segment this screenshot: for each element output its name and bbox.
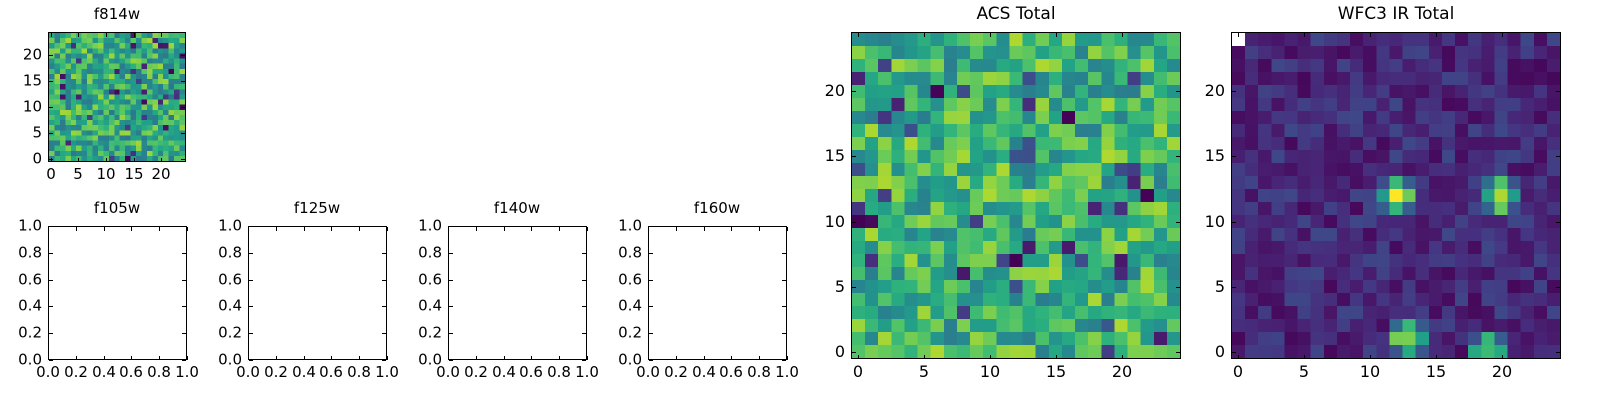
xtick-top-f160w-0 (648, 227, 649, 231)
yticklabel-f140w-4: 0.8 (384, 246, 442, 261)
panel-title-wfc3-ir-total: WFC3 IR Total (1236, 4, 1556, 24)
ytick-right-f814w-2 (181, 107, 185, 108)
xticklabel-f814w-0: 0 (46, 167, 56, 182)
xticklabel-f140w-4: 0.8 (547, 365, 571, 380)
ytick-f140w-3 (449, 280, 453, 281)
yticklabel-f140w-0: 0.0 (384, 353, 442, 368)
yticklabel-wfc3-ir-total-4: 20 (1167, 83, 1225, 99)
xticklabel-f814w-2: 10 (96, 167, 115, 182)
xtick-top-f125w-1 (276, 227, 277, 231)
axes-acs-total (851, 32, 1181, 359)
xtick-top-f160w-1 (676, 227, 677, 231)
yticklabel-f160w-2: 0.4 (584, 299, 642, 314)
xtick-acs-total-1 (924, 355, 925, 359)
ytick-right-f160w-3 (782, 280, 786, 281)
yticklabel-wfc3-ir-total-2: 10 (1167, 214, 1225, 230)
xticklabel-f140w-2: 0.4 (492, 365, 516, 380)
xtick-top-acs-total-0 (858, 33, 859, 37)
yticklabel-f140w-5: 1.0 (384, 219, 442, 234)
xtick-f160w-3 (731, 356, 732, 360)
xtick-f105w-2 (104, 356, 105, 360)
xtick-f125w-2 (304, 356, 305, 360)
xtick-f105w-4 (159, 356, 160, 360)
yticklabel-f105w-0: 0.0 (0, 353, 42, 368)
ytick-f125w-5 (249, 226, 253, 227)
yticklabel-wfc3-ir-total-0: 0 (1167, 344, 1225, 360)
xticklabel-f160w-2: 0.4 (692, 365, 716, 380)
xtick-top-f814w-3 (134, 33, 135, 37)
ytick-f160w-0 (649, 360, 653, 361)
xtick-top-f814w-2 (106, 33, 107, 37)
xticklabel-f125w-2: 0.4 (292, 365, 316, 380)
ytick-f125w-4 (249, 253, 253, 254)
xtick-top-acs-total-3 (1056, 33, 1057, 37)
yticklabel-f125w-1: 0.2 (184, 326, 242, 341)
ytick-f140w-5 (449, 226, 453, 227)
axes-f140w (448, 226, 587, 360)
xtick-f140w-1 (476, 356, 477, 360)
ytick-f125w-1 (249, 333, 253, 334)
yticklabel-f140w-2: 0.4 (384, 299, 442, 314)
xtick-top-f160w-4 (759, 227, 760, 231)
ytick-f814w-4 (49, 55, 53, 56)
xticklabel-f105w-1: 0.2 (64, 365, 88, 380)
xticklabel-wfc3-ir-total-2: 10 (1360, 364, 1380, 380)
yticklabel-f814w-3: 15 (0, 74, 42, 89)
xtick-wfc3-ir-total-0 (1238, 355, 1239, 359)
ytick-f125w-2 (249, 306, 253, 307)
yticklabel-f814w-2: 10 (0, 100, 42, 115)
ytick-f160w-4 (649, 253, 653, 254)
heatmap-wfc3-ir-total (1232, 33, 1560, 358)
ytick-f160w-2 (649, 306, 653, 307)
yticklabel-f105w-5: 1.0 (0, 219, 42, 234)
xtick-acs-total-3 (1056, 355, 1057, 359)
xtick-top-f125w-4 (359, 227, 360, 231)
xtick-top-f105w-0 (48, 227, 49, 231)
ytick-f814w-3 (49, 81, 53, 82)
ytick-right-wfc3-ir-total-1 (1556, 287, 1560, 288)
xticklabel-f125w-4: 0.8 (347, 365, 371, 380)
yticklabel-f160w-5: 1.0 (584, 219, 642, 234)
xticklabel-f814w-1: 5 (73, 167, 83, 182)
ytick-f160w-1 (649, 333, 653, 334)
xtick-f140w-2 (504, 356, 505, 360)
yticklabel-f814w-1: 5 (0, 126, 42, 141)
ytick-acs-total-2 (852, 222, 856, 223)
ytick-f125w-0 (249, 360, 253, 361)
ytick-f140w-1 (449, 333, 453, 334)
ytick-wfc3-ir-total-2 (1232, 222, 1236, 223)
yticklabel-f125w-0: 0.0 (184, 353, 242, 368)
xtick-f125w-1 (276, 356, 277, 360)
ytick-right-f160w-0 (782, 360, 786, 361)
xticklabel-f814w-3: 15 (124, 167, 143, 182)
xtick-top-wfc3-ir-total-0 (1238, 33, 1239, 37)
axes-f125w (248, 226, 387, 360)
ytick-wfc3-ir-total-1 (1232, 287, 1236, 288)
xtick-f160w-1 (676, 356, 677, 360)
xtick-top-f814w-4 (161, 33, 162, 37)
yticklabel-f160w-4: 0.8 (584, 246, 642, 261)
yticklabel-wfc3-ir-total-1: 5 (1167, 279, 1225, 295)
xticklabel-wfc3-ir-total-3: 15 (1426, 364, 1446, 380)
xtick-top-f140w-4 (559, 227, 560, 231)
ytick-f140w-0 (449, 360, 453, 361)
ytick-f105w-4 (49, 253, 53, 254)
xtick-top-f105w-2 (104, 227, 105, 231)
xtick-f814w-1 (78, 158, 79, 162)
ytick-f814w-0 (49, 159, 53, 160)
xticklabel-acs-total-2: 10 (980, 364, 1000, 380)
xtick-wfc3-ir-total-3 (1436, 355, 1437, 359)
xtick-top-f125w-0 (248, 227, 249, 231)
yticklabel-f105w-3: 0.6 (0, 273, 42, 288)
xtick-top-f814w-0 (51, 33, 52, 37)
ytick-right-f814w-0 (181, 159, 185, 160)
xtick-top-acs-total-1 (924, 33, 925, 37)
yticklabel-f814w-4: 20 (0, 48, 42, 63)
xtick-f125w-4 (359, 356, 360, 360)
xtick-wfc3-ir-total-2 (1370, 355, 1371, 359)
ytick-f105w-1 (49, 333, 53, 334)
ytick-acs-total-3 (852, 156, 856, 157)
xticklabel-f105w-2: 0.4 (92, 365, 116, 380)
yticklabel-acs-total-1: 5 (787, 279, 845, 295)
heatmap-f814w (49, 33, 185, 161)
ytick-right-wfc3-ir-total-4 (1556, 91, 1560, 92)
xticklabel-wfc3-ir-total-1: 5 (1299, 364, 1309, 380)
heatmap-acs-total (852, 33, 1180, 358)
xtick-top-wfc3-ir-total-1 (1304, 33, 1305, 37)
ytick-acs-total-1 (852, 287, 856, 288)
xticklabel-f140w-3: 0.6 (519, 365, 543, 380)
yticklabel-acs-total-0: 0 (787, 344, 845, 360)
yticklabel-f160w-1: 0.2 (584, 326, 642, 341)
xticklabel-f160w-5: 1.0 (775, 365, 799, 380)
xtick-top-f160w-2 (704, 227, 705, 231)
xtick-top-f105w-4 (159, 227, 160, 231)
xticklabel-wfc3-ir-total-4: 20 (1492, 364, 1512, 380)
xticklabel-f125w-1: 0.2 (264, 365, 288, 380)
yticklabel-f105w-4: 0.8 (0, 246, 42, 261)
yticklabel-f160w-0: 0.0 (584, 353, 642, 368)
xtick-f105w-3 (131, 356, 132, 360)
xtick-top-f105w-1 (76, 227, 77, 231)
axes-f105w (48, 226, 187, 360)
xtick-f105w-1 (76, 356, 77, 360)
yticklabel-f140w-3: 0.6 (384, 273, 442, 288)
xtick-top-wfc3-ir-total-3 (1436, 33, 1437, 37)
xticklabel-f160w-4: 0.8 (747, 365, 771, 380)
xticklabel-f160w-1: 0.2 (664, 365, 688, 380)
xtick-top-acs-total-2 (990, 33, 991, 37)
xtick-top-f160w-3 (731, 227, 732, 231)
xticklabel-acs-total-1: 5 (919, 364, 929, 380)
ytick-f160w-5 (649, 226, 653, 227)
ytick-f105w-2 (49, 306, 53, 307)
xticklabel-acs-total-0: 0 (853, 364, 863, 380)
xtick-acs-total-2 (990, 355, 991, 359)
xtick-f814w-2 (106, 158, 107, 162)
figure-canvas: f814w0510152005101520f105w0.00.20.40.60.… (0, 0, 1600, 400)
xtick-f814w-3 (134, 158, 135, 162)
ytick-f814w-2 (49, 107, 53, 108)
xticklabel-f140w-1: 0.2 (464, 365, 488, 380)
xticklabel-f160w-3: 0.6 (719, 365, 743, 380)
ytick-right-f814w-3 (181, 81, 185, 82)
xtick-top-f125w-3 (331, 227, 332, 231)
xticklabel-f105w-4: 0.8 (147, 365, 171, 380)
ytick-right-f160w-4 (782, 253, 786, 254)
ytick-right-f814w-4 (181, 55, 185, 56)
ytick-acs-total-4 (852, 91, 856, 92)
xtick-top-f814w-1 (78, 33, 79, 37)
yticklabel-wfc3-ir-total-3: 15 (1167, 148, 1225, 164)
yticklabel-f140w-1: 0.2 (384, 326, 442, 341)
xtick-acs-total-0 (858, 355, 859, 359)
ytick-f140w-4 (449, 253, 453, 254)
yticklabel-f105w-1: 0.2 (0, 326, 42, 341)
xtick-top-f140w-3 (531, 227, 532, 231)
yticklabel-acs-total-3: 15 (787, 148, 845, 164)
ytick-right-f814w-1 (181, 133, 185, 134)
ytick-right-f160w-2 (782, 306, 786, 307)
ytick-right-wfc3-ir-total-3 (1556, 156, 1560, 157)
xticklabel-f125w-3: 0.6 (319, 365, 343, 380)
xticklabel-f105w-3: 0.6 (119, 365, 143, 380)
xticklabel-f814w-4: 20 (151, 167, 170, 182)
xtick-acs-total-4 (1122, 355, 1123, 359)
xticklabel-acs-total-4: 20 (1112, 364, 1132, 380)
xtick-f125w-3 (331, 356, 332, 360)
yticklabel-f125w-4: 0.8 (184, 246, 242, 261)
ytick-f105w-0 (49, 360, 53, 361)
ytick-f105w-3 (49, 280, 53, 281)
xtick-top-f140w-0 (448, 227, 449, 231)
ytick-f105w-5 (49, 226, 53, 227)
yticklabel-f125w-3: 0.6 (184, 273, 242, 288)
ytick-right-f160w-5 (782, 226, 786, 227)
axes-wfc3-ir-total (1231, 32, 1561, 359)
xtick-f814w-4 (161, 158, 162, 162)
xtick-f160w-4 (759, 356, 760, 360)
yticklabel-f125w-2: 0.4 (184, 299, 242, 314)
yticklabel-f160w-3: 0.6 (584, 273, 642, 288)
xtick-top-wfc3-ir-total-2 (1370, 33, 1371, 37)
xticklabel-wfc3-ir-total-0: 0 (1233, 364, 1243, 380)
yticklabel-f814w-0: 0 (0, 152, 42, 167)
xtick-f140w-4 (559, 356, 560, 360)
ytick-wfc3-ir-total-4 (1232, 91, 1236, 92)
xticklabel-acs-total-3: 15 (1046, 364, 1066, 380)
xtick-top-f140w-2 (504, 227, 505, 231)
yticklabel-acs-total-4: 20 (787, 83, 845, 99)
xtick-f160w-2 (704, 356, 705, 360)
xtick-wfc3-ir-total-4 (1502, 355, 1503, 359)
ytick-right-wfc3-ir-total-0 (1556, 352, 1560, 353)
xtick-f140w-3 (531, 356, 532, 360)
ytick-right-wfc3-ir-total-2 (1556, 222, 1560, 223)
yticklabel-acs-total-2: 10 (787, 214, 845, 230)
xtick-top-f125w-2 (304, 227, 305, 231)
xtick-top-acs-total-4 (1122, 33, 1123, 37)
yticklabel-f105w-2: 0.4 (0, 299, 42, 314)
ytick-wfc3-ir-total-0 (1232, 352, 1236, 353)
xtick-wfc3-ir-total-1 (1304, 355, 1305, 359)
ytick-wfc3-ir-total-3 (1232, 156, 1236, 157)
ytick-f160w-3 (649, 280, 653, 281)
xtick-top-f140w-1 (476, 227, 477, 231)
panel-title-f814w: f814w (0, 5, 277, 23)
xtick-top-f105w-3 (131, 227, 132, 231)
ytick-f140w-2 (449, 306, 453, 307)
xtick-top-wfc3-ir-total-4 (1502, 33, 1503, 37)
ytick-acs-total-0 (852, 352, 856, 353)
ytick-f125w-3 (249, 280, 253, 281)
ytick-right-f160w-1 (782, 333, 786, 334)
ytick-f814w-1 (49, 133, 53, 134)
yticklabel-f125w-5: 1.0 (184, 219, 242, 234)
axes-f814w (48, 32, 186, 162)
panel-title-acs-total: ACS Total (856, 4, 1176, 24)
axes-f160w (648, 226, 787, 360)
